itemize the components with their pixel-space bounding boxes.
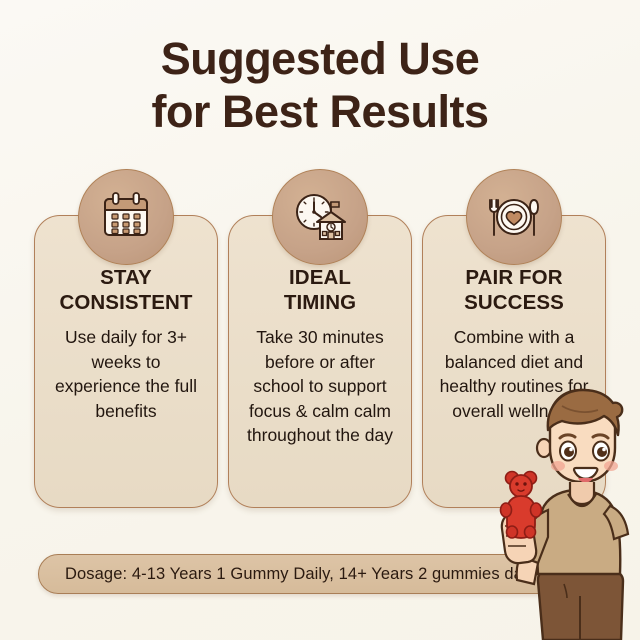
clock-school-icon xyxy=(272,169,368,265)
page-title-line-2: for Best Results xyxy=(0,85,640,138)
card-pair-for-success: PAIR FOR SUCCESS Combine with a balanced… xyxy=(422,215,606,508)
card-body-text: Take 30 minutes before or after school t… xyxy=(237,325,403,448)
dosage-text: Dosage: 4-13 Years 1 Gummy Daily, 14+ Ye… xyxy=(65,565,539,584)
calendar-icon xyxy=(78,169,174,265)
card-heading: IDEAL TIMING xyxy=(237,266,403,315)
dosage-banner: Dosage: 4-13 Years 1 Gummy Daily, 14+ Ye… xyxy=(38,554,600,594)
card-heading: STAY CONSISTENT xyxy=(43,266,209,315)
plate-heart-icon xyxy=(466,169,562,265)
card-stay-consistent: STAY CONSISTENT Use daily for 3+ weeks t… xyxy=(34,215,218,508)
card-body-text: Use daily for 3+ weeks to experience the… xyxy=(43,325,209,423)
page-title: Suggested Use for Best Results xyxy=(0,32,640,138)
suggested-use-card-row: STAY CONSISTENT Use daily for 3+ weeks t… xyxy=(34,215,606,508)
card-ideal-timing: IDEAL TIMING Take 30 minutes before or a… xyxy=(228,215,412,508)
page-title-line-1: Suggested Use xyxy=(0,32,640,85)
card-body-text: Combine with a balanced diet and healthy… xyxy=(431,325,597,423)
poster-canvas: Suggested Use for Best Results xyxy=(0,0,640,640)
card-heading: PAIR FOR SUCCESS xyxy=(431,266,597,315)
